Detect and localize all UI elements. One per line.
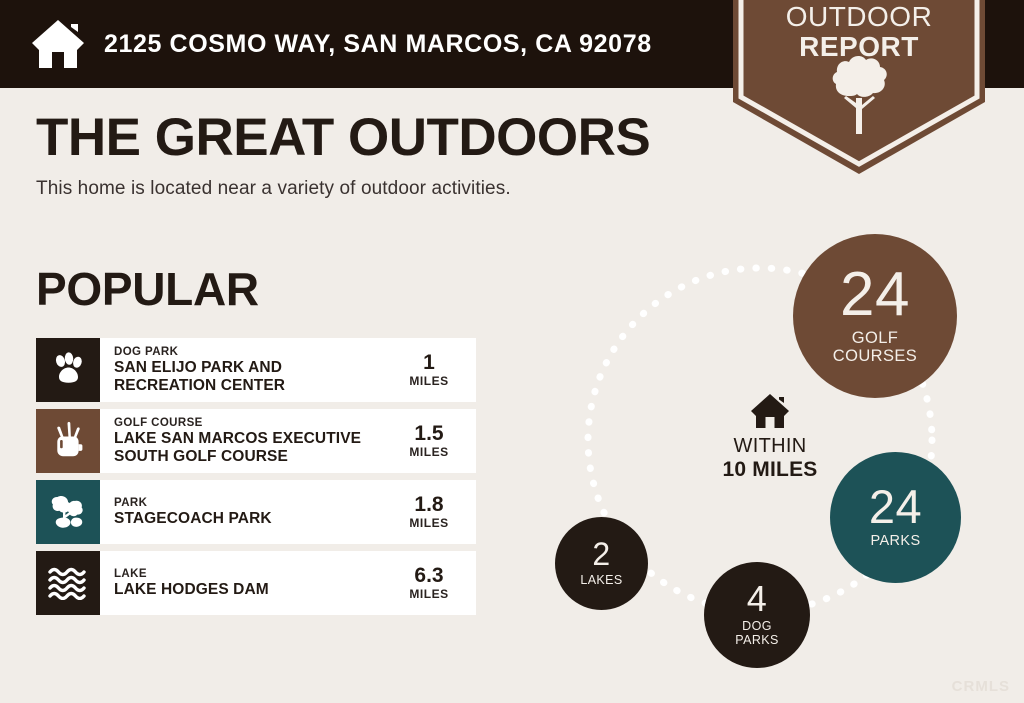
list-item-category: GOLF COURSE xyxy=(114,416,382,430)
outdoor-report-badge: OUTDOOR REPORT xyxy=(733,0,985,174)
distance-value: 1.5 xyxy=(414,423,443,445)
stat-label: GOLF COURSES xyxy=(833,329,917,365)
list-item-distance: 1.8 MILES xyxy=(390,480,476,544)
home-icon xyxy=(750,393,790,429)
list-item-distance: 6.3 MILES xyxy=(390,551,476,615)
golf-bag-icon xyxy=(36,409,100,473)
list-item-text: DOG PARK SAN ELIJO PARK AND RECREATION C… xyxy=(100,338,390,402)
page-title: THE GREAT OUTDOORS xyxy=(36,110,716,166)
stat-count: 2 xyxy=(592,539,610,569)
popular-list: DOG PARK SAN ELIJO PARK AND RECREATION C… xyxy=(36,338,476,622)
list-item-name: LAKE SAN MARCOS EXECUTIVE SOUTH GOLF COU… xyxy=(114,430,382,467)
stat-label: DOG PARKS xyxy=(735,620,778,648)
list-item-name: SAN ELIJO PARK AND RECREATION CENTER xyxy=(114,359,382,396)
stat-count: 24 xyxy=(869,485,922,530)
list-item-text: PARK STAGECOACH PARK xyxy=(100,480,390,544)
distance-value: 1.8 xyxy=(414,494,443,516)
distance-unit: MILES xyxy=(409,445,448,459)
list-item-category: LAKE xyxy=(114,567,382,581)
paw-icon xyxy=(36,338,100,402)
distance-unit: MILES xyxy=(409,587,448,601)
page-subtitle: This home is located near a variety of o… xyxy=(36,178,716,200)
stat-bubble-lakes[interactable]: 2 LAKES xyxy=(555,517,648,610)
list-item-category: DOG PARK xyxy=(114,345,382,359)
stat-count: 24 xyxy=(840,266,910,325)
distance-unit: MILES xyxy=(409,516,448,530)
distance-unit: MILES xyxy=(409,374,448,388)
list-item-name: LAKE HODGES DAM xyxy=(114,581,382,599)
radius-label: 10 MILES xyxy=(670,458,870,482)
list-item[interactable]: PARK STAGECOACH PARK 1.8 MILES xyxy=(36,480,476,544)
list-item-distance: 1.5 MILES xyxy=(390,409,476,473)
distance-value: 1 xyxy=(423,352,435,374)
list-item-category: PARK xyxy=(114,496,382,510)
list-item-distance: 1 MILES xyxy=(390,338,476,402)
stat-bubble-dog-parks[interactable]: 4 DOG PARKS xyxy=(704,562,810,668)
within-10-miles-diagram: 24 GOLF COURSES 24 PARKS 2 LAKES 4 DOG P… xyxy=(540,225,1010,675)
popular-heading: POPULAR xyxy=(36,262,259,316)
waves-icon xyxy=(36,551,100,615)
stat-count: 4 xyxy=(747,582,768,616)
diagram-center-label: WITHIN 10 MILES xyxy=(670,393,870,482)
home-icon xyxy=(30,18,86,70)
stat-label: LAKES xyxy=(580,574,622,588)
list-item[interactable]: LAKE LAKE HODGES DAM 6.3 MILES xyxy=(36,551,476,615)
list-item[interactable]: GOLF COURSE LAKE SAN MARCOS EXECUTIVE SO… xyxy=(36,409,476,473)
watermark: CRMLS xyxy=(952,678,1010,695)
stat-bubble-golf-courses[interactable]: 24 GOLF COURSES xyxy=(793,234,957,398)
list-item-name: STAGECOACH PARK xyxy=(114,510,382,528)
property-address: 2125 COSMO WAY, SAN MARCOS, CA 92078 xyxy=(104,30,652,59)
infographic-page: 2125 COSMO WAY, SAN MARCOS, CA 92078 OUT… xyxy=(0,0,1024,703)
list-item[interactable]: DOG PARK SAN ELIJO PARK AND RECREATION C… xyxy=(36,338,476,402)
distance-value: 6.3 xyxy=(414,565,443,587)
list-item-text: GOLF COURSE LAKE SAN MARCOS EXECUTIVE SO… xyxy=(100,409,390,473)
list-item-text: LAKE LAKE HODGES DAM xyxy=(100,551,390,615)
trees-icon xyxy=(36,480,100,544)
within-label: WITHIN xyxy=(670,435,870,458)
title-block: THE GREAT OUTDOORS This home is located … xyxy=(36,110,716,200)
stat-label: PARKS xyxy=(870,534,920,550)
